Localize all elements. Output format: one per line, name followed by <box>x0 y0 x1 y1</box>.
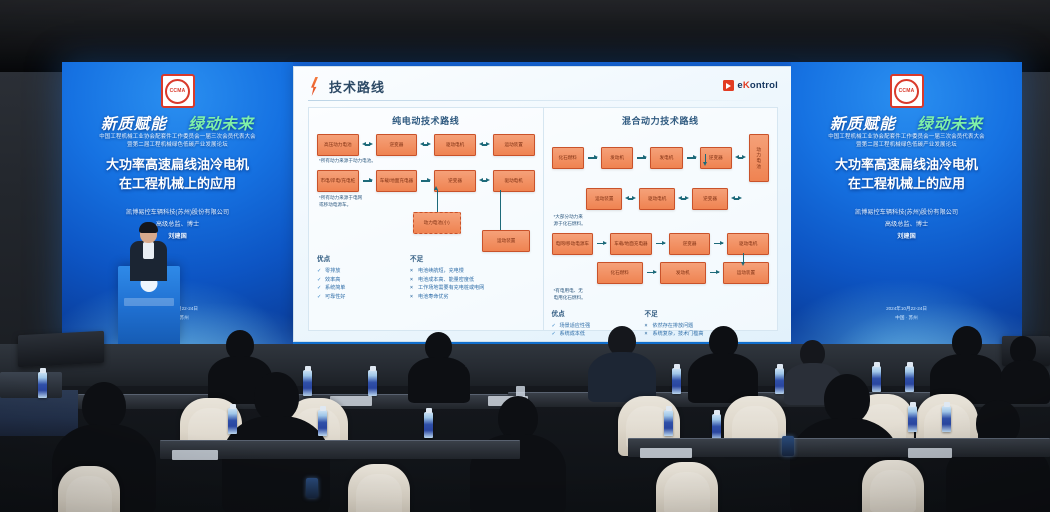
flow-connector-vertical-right <box>500 190 501 230</box>
arrow-forward <box>713 240 724 248</box>
flow-node: 逆变器 <box>692 188 728 210</box>
chair <box>348 464 410 512</box>
chair <box>58 466 120 512</box>
flow-node: 高压动力电池 <box>317 134 359 156</box>
event-slogan: 新质赋能 绿动未来 <box>62 112 293 134</box>
event-date-location: 2024年10月22-24日 中国 · 苏州 <box>799 305 1014 322</box>
speaker-role: 高级总监、博士 <box>70 220 285 230</box>
document-paper <box>908 448 952 458</box>
cons-item: ×电池寿命优劣 <box>410 293 535 302</box>
pros-heading: 优点 <box>317 253 400 263</box>
slogan-part2: 绿动未来 <box>917 116 983 133</box>
cons-heading: 不足 <box>410 253 535 263</box>
arrow-forward <box>709 269 720 277</box>
ekontrol-logo-text: eKontrol <box>737 80 778 91</box>
talk-title: 大功率高速扁线油冷电机 在工程机械上的应用 <box>70 156 285 194</box>
flow-connector-vertical-2 <box>743 253 744 262</box>
lightning-icon <box>308 77 323 96</box>
cons-item: ×电池成本高、能量密度低 <box>410 276 535 285</box>
slogan-part1: 新质赋能 <box>101 116 167 133</box>
arrow-bidirectional <box>625 195 636 203</box>
speaker-company: 凯博易控车辆科技(苏州)股份有限公司 <box>70 208 285 218</box>
arrow-forward <box>655 240 666 248</box>
arrow-bidirectional <box>735 154 746 162</box>
water-bottle <box>775 368 784 394</box>
conference-photo: CCMA 新质赋能 绿动未来 中国工程机械工业协会配套件工作委员会一届三次会员代… <box>0 0 1050 512</box>
event-location: 中国 · 苏州 <box>799 314 1014 322</box>
talk-title-line1: 大功率高速扁线油冷电机 <box>70 156 285 175</box>
flow-node: 驱动电机 <box>727 233 769 255</box>
water-bottle <box>368 370 377 396</box>
check-icon: ✓ <box>552 322 557 331</box>
water-bottle <box>712 414 721 440</box>
flow-node: 化石燃料 <box>552 147 584 169</box>
talk-title: 大功率高速扁线油冷电机 在工程机械上的应用 <box>799 156 1014 194</box>
column-hybrid: 混合动力技术路线 化石燃料 发动机 发电机 逆变器 动力电池 <box>544 108 778 330</box>
ccma-logo: CCMA <box>161 74 195 108</box>
flow-note-1: *大部分动力来 源于化石燃料。 <box>554 214 770 228</box>
flow-node: 逆变器 <box>669 233 711 255</box>
arrow-bidirectional <box>479 141 490 149</box>
ccma-logo: CCMA <box>890 74 924 108</box>
cross-icon: × <box>410 276 415 285</box>
arrow-forward <box>646 269 657 277</box>
water-bottle <box>318 410 327 436</box>
flow-node: 市电/岸电/充电桩 <box>317 170 359 192</box>
water-bottle <box>942 406 951 432</box>
pros-item: ✓效率高 <box>317 276 400 285</box>
talk-title-line2: 在工程机械上的应用 <box>70 175 285 194</box>
flow-note-2: *所有动力来源于电网 或移动电源车。 <box>319 195 535 209</box>
pros-item: ✓系统简单 <box>317 284 400 293</box>
check-icon: ✓ <box>317 276 322 285</box>
flow-node: 逆变器 <box>376 134 418 156</box>
pros-item: ✓零排放 <box>317 267 400 276</box>
flow-row-2: 运动装置 驱动电机 逆变器 <box>552 188 770 210</box>
cross-icon: × <box>410 284 415 293</box>
audience-person <box>408 332 470 400</box>
speaker-role: 高级总监、博士 <box>799 220 1014 230</box>
check-icon: ✓ <box>317 293 322 302</box>
arrow-bidirectional <box>479 177 490 185</box>
arrow-forward <box>362 177 373 185</box>
water-bottle <box>664 410 673 436</box>
flow-connector-vertical <box>705 154 706 162</box>
speaker-person <box>128 224 168 280</box>
pros-cons-left: 优点 ✓零排放 ✓效率高 ✓系统简单 ✓可靠性好 不足 ×电池续航短，充电慢 ×… <box>317 253 535 303</box>
arrow-forward <box>420 177 431 185</box>
stage-monitor-left <box>18 331 104 368</box>
flow-node: 驱动电机 <box>639 188 675 210</box>
talk-title-line2: 在工程机械上的应用 <box>799 175 1014 194</box>
flow-note: *所有动力来源于动力电池。 <box>319 158 535 165</box>
event-subtitle-2: 暨第二届工程机械绿色低碳产业发展论坛 <box>801 141 1012 149</box>
speaker-company: 凯博易控车辆科技(苏州)股份有限公司 <box>799 208 1014 218</box>
arrow-bidirectional <box>362 141 373 149</box>
slide-title: 技术路线 <box>329 77 385 96</box>
flow-node: 车载/地面充电器 <box>610 233 652 255</box>
slide-body: 纯电动技术路线 高压动力电池 逆变器 驱动电机 运动装置 *所有动力来源于动力电… <box>308 107 778 331</box>
ccma-logo-text: CCMA <box>170 88 186 94</box>
column-heading-right: 混合动力技术路线 <box>552 114 770 127</box>
chair <box>656 462 718 512</box>
flow-node: 运动装置 <box>482 230 530 252</box>
audience-person <box>588 326 656 400</box>
arrow-forward <box>686 154 697 162</box>
flow-node: 发电机 <box>650 147 682 169</box>
flow-row-1: 高压动力电池 逆变器 驱动电机 运动装置 <box>317 134 535 156</box>
flow-node: 发动机 <box>660 262 706 284</box>
event-slogan: 新质赋能 绿动未来 <box>791 112 1022 134</box>
water-bottle <box>908 406 917 432</box>
column-pure-electric: 纯电动技术路线 高压动力电池 逆变器 驱动电机 运动装置 *所有动力来源于动力电… <box>309 108 544 330</box>
arrow-bidirectional <box>678 195 689 203</box>
check-icon: ✓ <box>317 267 322 276</box>
slogan-part2: 绿动未来 <box>188 116 254 133</box>
cons-item: ×电池续航短，充电慢 <box>410 267 535 276</box>
cons-list: 不足 ×电池续航短，充电慢 ×电池成本高、能量密度低 ×工作场地需要有充电桩或电… <box>410 253 535 303</box>
water-bottle <box>424 412 433 438</box>
pros-list: 优点 ✓零排放 ✓效率高 ✓系统简单 ✓可靠性好 <box>317 253 400 303</box>
pros-heading: 优点 <box>552 308 635 318</box>
flow-node: 化石燃料 <box>597 262 643 284</box>
flow-row-3: 电网/移动电源车 车载/地面充电器 逆变器 驱动电机 <box>552 233 770 255</box>
arrow-forward <box>636 154 647 162</box>
flow-node: 驱动电机 <box>493 170 535 192</box>
ccma-logo-text: CCMA <box>899 88 915 94</box>
flow-note-2: *有电用电、无 电用化石燃料。 <box>554 288 770 302</box>
flow-node-battery: 动力电池 <box>749 134 769 182</box>
flow-node: 运动装置 <box>723 262 769 284</box>
ekontrol-logo: eKontrol <box>723 80 778 91</box>
podium-band <box>124 298 174 306</box>
event-subtitle-2: 暨第二届工程机械绿色低碳产业发展论坛 <box>72 141 283 149</box>
flow-node: 运动装置 <box>586 188 622 210</box>
column-heading-left: 纯电动技术路线 <box>317 114 535 127</box>
flow-row-4: 化石燃料 发动机 运动装置 <box>552 262 770 284</box>
audience-person <box>1000 336 1050 400</box>
water-bottle <box>672 368 681 394</box>
flow-node: 发动机 <box>601 147 633 169</box>
flow-node: 车载/地面充电器 <box>376 170 418 192</box>
chair <box>862 460 924 512</box>
flow-connector-vertical <box>437 190 438 212</box>
arrow-forward <box>587 154 598 162</box>
flow-node: 电网/移动电源车 <box>552 233 594 255</box>
water-bottle <box>228 408 237 434</box>
banner-right: CCMA 新质赋能 绿动未来 中国工程机械工业协会配套件工作委员会一届三次会员代… <box>791 62 1022 344</box>
check-icon: ✓ <box>317 284 322 293</box>
audience-person <box>688 326 758 400</box>
led-screen: CCMA 新质赋能 绿动未来 中国工程机械工业协会配套件工作委员会一届三次会员代… <box>62 62 1022 344</box>
pros-item: ✓可靠性好 <box>317 293 400 302</box>
flow-node-optional: 动力电池(小) <box>413 212 461 234</box>
flow-node: 驱动电机 <box>434 134 476 156</box>
cross-icon: × <box>410 267 415 276</box>
flow-node: 运动装置 <box>493 134 535 156</box>
water-bottle <box>38 372 47 398</box>
water-bottle <box>905 366 914 392</box>
title-divider <box>308 100 778 101</box>
cons-heading: 不足 <box>645 308 770 318</box>
check-icon: ✓ <box>552 330 557 339</box>
banner-left: CCMA 新质赋能 绿动未来 中国工程机械工业协会配套件工作委员会一届三次会员代… <box>62 62 293 344</box>
arrow-bidirectional <box>731 195 742 203</box>
audience-person <box>930 326 1002 400</box>
cross-icon: × <box>410 293 415 302</box>
arrow-forward <box>596 240 607 248</box>
slide-header: 技术路线 <box>308 77 385 96</box>
event-date: 2024年10月22-24日 <box>799 305 1014 313</box>
smartphone <box>306 478 318 498</box>
arrow-bidirectional <box>420 141 431 149</box>
ekontrol-mark-icon <box>723 80 734 91</box>
speaker-name: 刘建国 <box>799 232 1014 242</box>
speaker-name: 刘建国 <box>70 232 285 242</box>
document-paper <box>640 448 692 458</box>
talk-title-line1: 大功率高速扁线油冷电机 <box>799 156 1014 175</box>
smartphone <box>782 436 794 456</box>
presentation-slide: 技术路线 eKontrol 纯电动技术路线 高压动力电池 逆变器 驱动电机 <box>293 66 793 342</box>
cons-item: ×工作场地需要有充电桩或电网 <box>410 284 535 293</box>
slogan-part1: 新质赋能 <box>830 116 896 133</box>
flow-row-2: 市电/岸电/充电桩 车载/地面充电器 逆变器 驱动电机 <box>317 170 535 192</box>
flow-node: 逆变器 <box>434 170 476 192</box>
flow-row-1: 化石燃料 发动机 发电机 逆变器 动力电池 <box>552 134 770 182</box>
document-paper <box>172 450 218 460</box>
